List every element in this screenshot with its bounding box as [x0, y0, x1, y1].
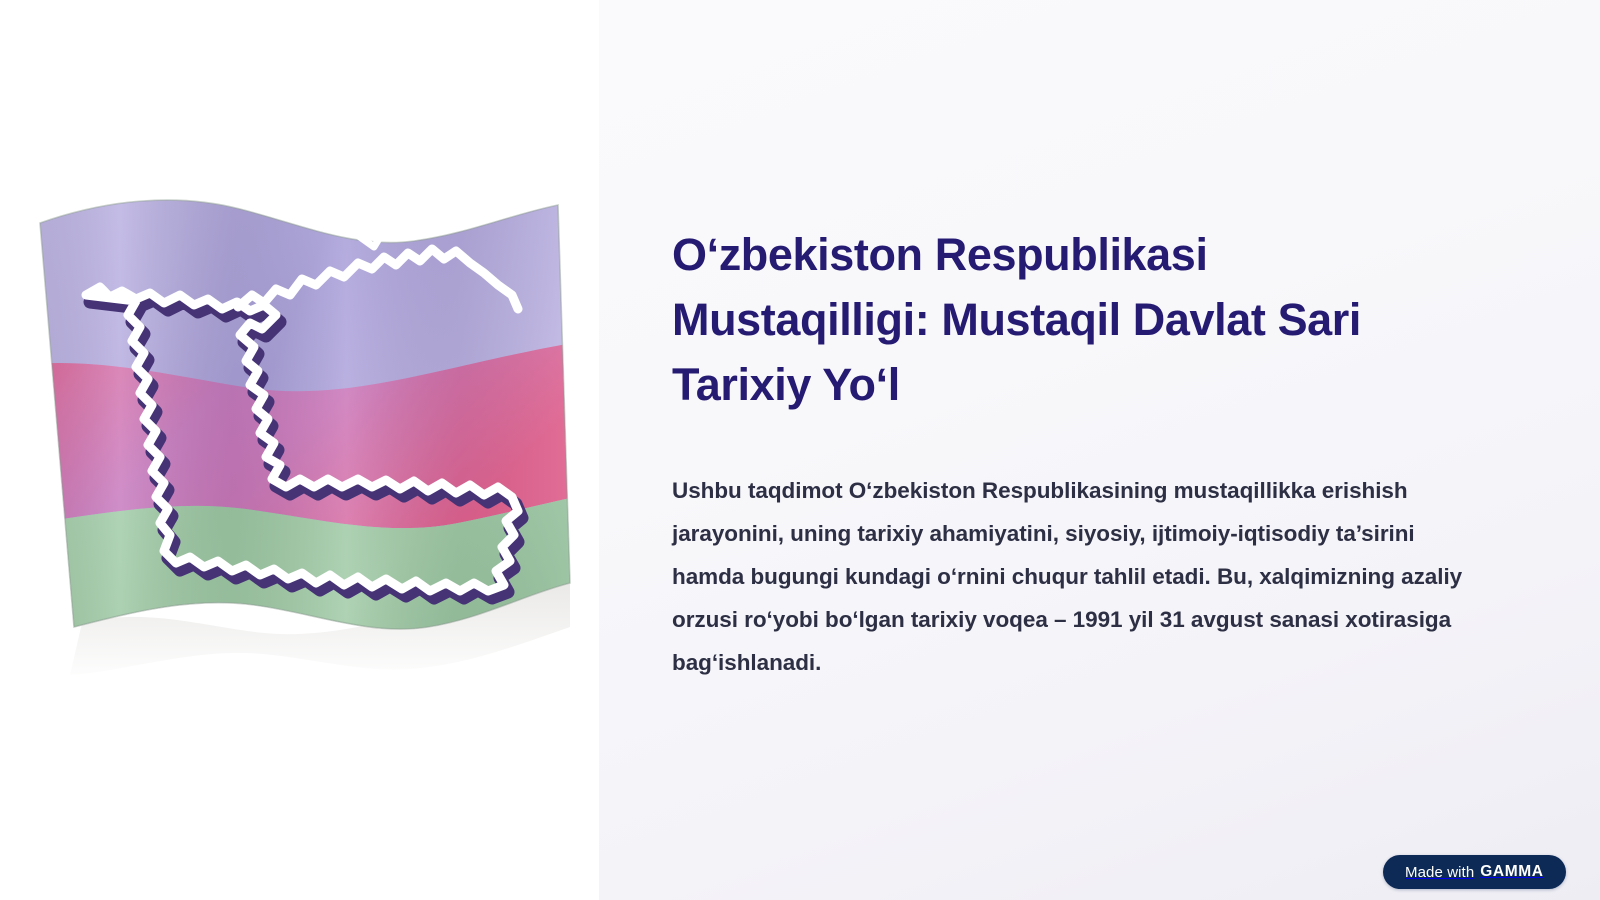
slide-text-panel: O‘zbekiston Respublikasi Mustaqilligi: M… [599, 0, 1600, 900]
slide-content: O‘zbekiston Respublikasi Mustaqilligi: M… [672, 222, 1482, 684]
uzbekistan-flag-map-illustration [18, 175, 584, 675]
badge-made-with-label: Made with [1405, 864, 1474, 881]
page-title: O‘zbekiston Respublikasi Mustaqilligi: M… [672, 222, 1462, 417]
badge-gamma-wordmark: GAMMA [1480, 863, 1543, 881]
made-with-gamma-badge[interactable]: Made with GAMMA [1383, 855, 1566, 889]
flag-illustration-svg [18, 175, 584, 675]
presentation-slide: O‘zbekiston Respublikasi Mustaqilligi: M… [0, 0, 1600, 900]
slide-description: Ushbu taqdimot O‘zbekiston Respublikasin… [672, 469, 1472, 684]
slide-image-panel [0, 0, 599, 900]
